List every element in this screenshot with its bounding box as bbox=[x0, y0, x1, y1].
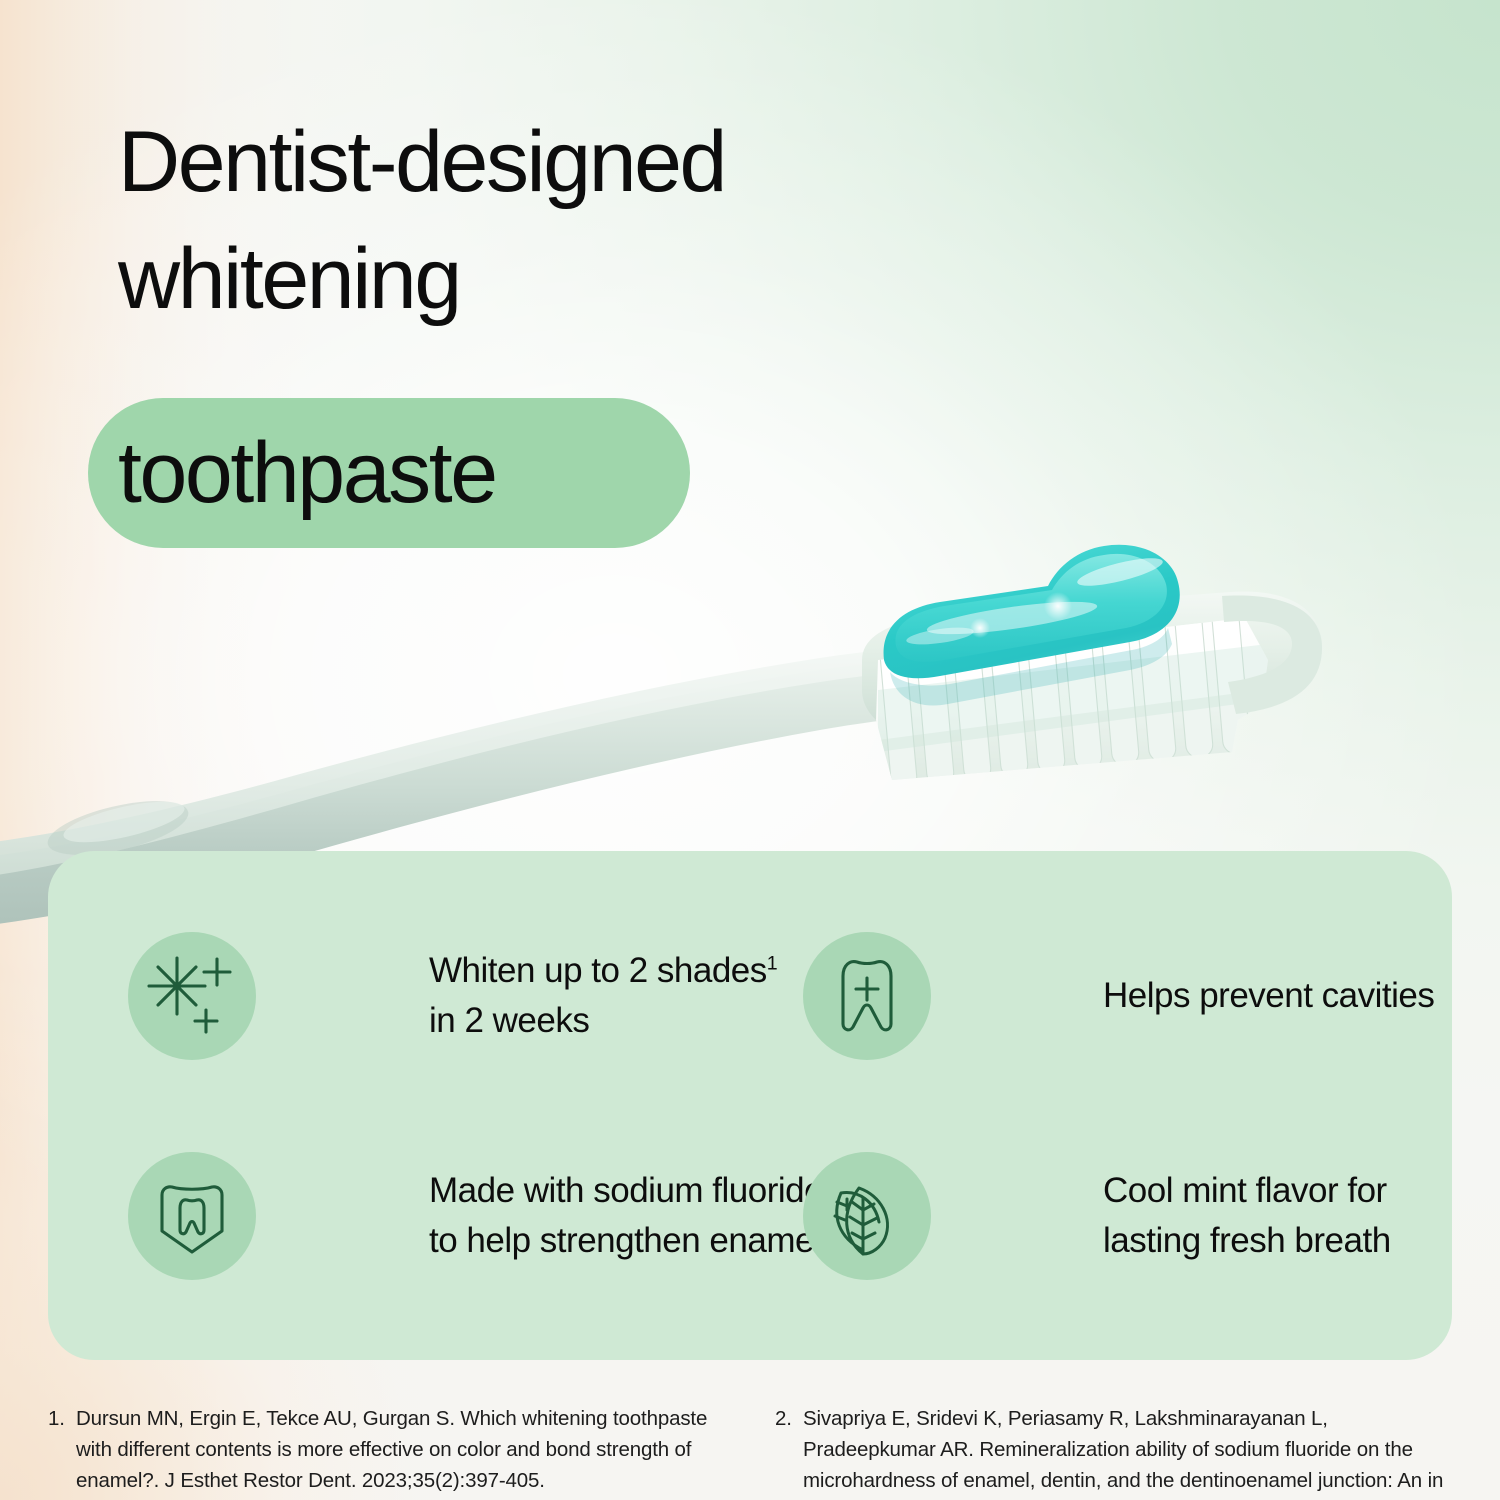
benefit-line-1: Helps prevent cavities bbox=[1103, 976, 1434, 1015]
page-headline: Dentist-designed whitening bbox=[118, 104, 1018, 338]
footnote-marker-1: 1 bbox=[767, 953, 777, 975]
shield-tooth-icon bbox=[128, 1152, 256, 1280]
sparkle-icon bbox=[128, 932, 256, 1060]
mint-leaves-icon bbox=[803, 1152, 931, 1280]
benefit-label-whitening: Whiten up to 2 shades1in 2 weeks bbox=[429, 946, 777, 1045]
footnote-2-number: 2. bbox=[775, 1403, 803, 1500]
footnote-1: 1. Dursun MN, Ergin E, Tekce AU, Gurgan … bbox=[48, 1403, 748, 1500]
footnote-1-text: Dursun MN, Ergin E, Tekce AU, Gurgan S. … bbox=[76, 1403, 748, 1500]
benefit-line-2: to help strengthen enamel bbox=[429, 1221, 821, 1260]
benefit-line-1: Cool mint flavor for bbox=[1103, 1171, 1387, 1210]
footnotes: 1. Dursun MN, Ergin E, Tekce AU, Gurgan … bbox=[0, 1395, 1500, 1500]
benefit-line-1: Whiten up to 2 shades bbox=[429, 951, 767, 990]
benefit-label-mint: Cool mint flavor forlasting fresh breath bbox=[1103, 1166, 1391, 1265]
benefit-item-cavities: Helps prevent cavities bbox=[803, 932, 1434, 1060]
footnote-1-number: 1. bbox=[48, 1403, 76, 1500]
benefit-label-fluoride: Made with sodium fluorideto help strengt… bbox=[429, 1166, 832, 1265]
product-marketing-image: Dentist-designed whitening toothpaste bbox=[0, 0, 1500, 1500]
benefit-item-whitening: Whiten up to 2 shades1in 2 weeks bbox=[128, 932, 777, 1060]
benefit-line-2: lasting fresh breath bbox=[1103, 1221, 1391, 1260]
benefit-label-cavities: Helps prevent cavities bbox=[1103, 971, 1434, 1021]
benefit-item-fluoride: Made with sodium fluorideto help strengt… bbox=[128, 1152, 832, 1280]
headline-highlight-label: toothpaste bbox=[118, 398, 720, 548]
footnote-2-text: Sivapriya E, Sridevi K, Periasamy R, Lak… bbox=[803, 1403, 1465, 1500]
benefits-panel bbox=[48, 851, 1452, 1360]
benefit-item-mint: Cool mint flavor forlasting fresh breath bbox=[803, 1152, 1391, 1280]
headline-line-1: Dentist-designed bbox=[118, 104, 1018, 221]
headline-line-2: whitening bbox=[118, 221, 1018, 338]
benefit-line-2: in 2 weeks bbox=[429, 1001, 589, 1040]
tooth-plus-icon bbox=[803, 932, 931, 1060]
footnote-2: 2. Sivapriya E, Sridevi K, Periasamy R, … bbox=[775, 1403, 1465, 1500]
benefit-line-1: Made with sodium fluoride bbox=[429, 1171, 823, 1210]
